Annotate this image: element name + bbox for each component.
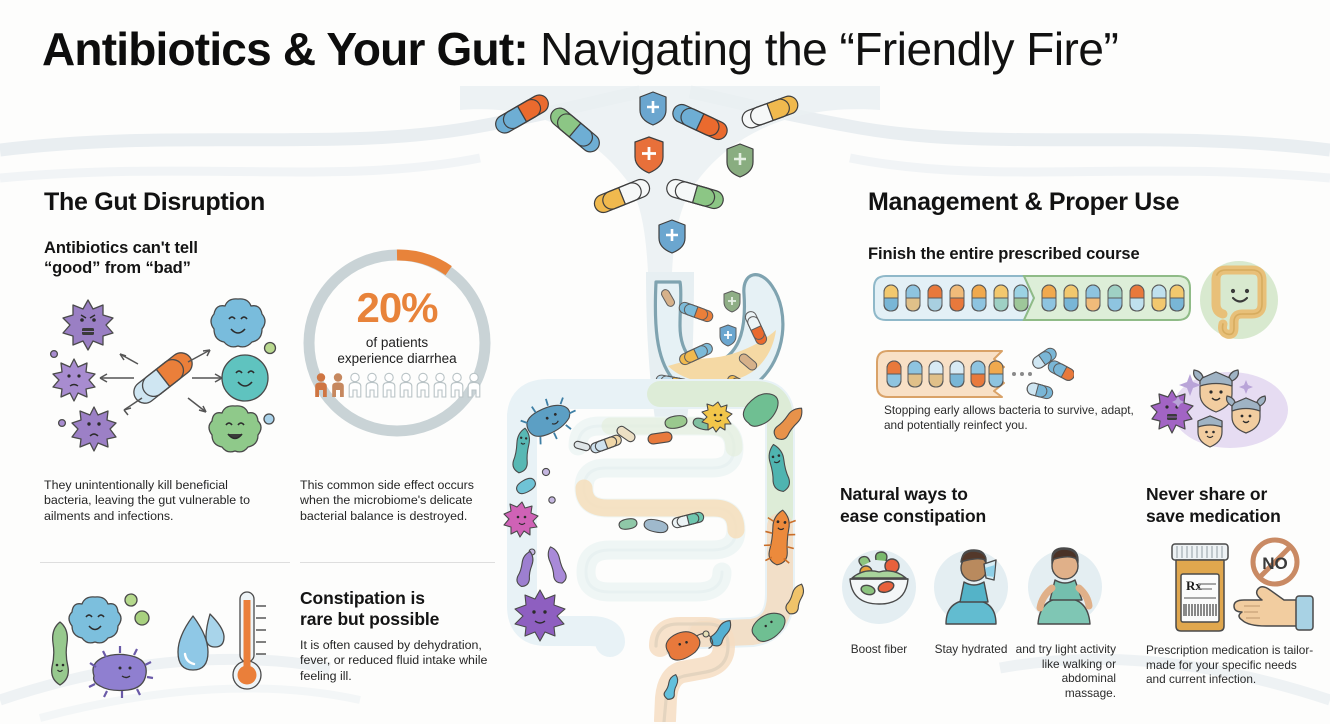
right-block1-heading: Finish the entire prescribed course (868, 244, 1140, 264)
right-section-heading: Management & Proper Use (868, 188, 1179, 217)
person-icon-empty (381, 372, 397, 398)
remedy-caption-1: Stay hydrated (924, 642, 1018, 657)
title-light-segment: Navigating the “Friendly Fire” (528, 23, 1118, 75)
remedy-caption-0: Boost fiber (840, 642, 918, 657)
left-block1-heading-line1: Antibiotics can't tell (44, 238, 198, 258)
left-block3-heading-line2: rare but possible (300, 609, 439, 630)
rx-label-text: Rx (1186, 578, 1202, 593)
person-icon-empty (398, 372, 414, 398)
person-drinking-water-icon (932, 546, 1010, 628)
right-block2-heading: Natural ways to ease constipation (840, 483, 986, 527)
page-title: Antibiotics & Your Gut: Navigating the “… (42, 22, 1292, 84)
right-block1-caption: Stopping early allows bacteria to surviv… (884, 403, 1134, 432)
stat-label-line1: of patients (366, 335, 428, 350)
person-icon-empty (364, 372, 380, 398)
microbes-waterdrop-thermometer (38, 572, 288, 702)
person-icon-empty (432, 372, 448, 398)
person-icon-empty (415, 372, 431, 398)
right-block2-heading-line1: Natural ways to (840, 483, 986, 505)
full-pill-strip-illustration (872, 272, 1192, 324)
left-section-heading: The Gut Disruption (44, 188, 265, 217)
person-walking-icon (1026, 546, 1104, 628)
digestive-tract-with-pills-and-bacteria (460, 86, 880, 722)
no-label-text: NO (1262, 554, 1288, 573)
left-block1-body: They unintentionally kill beneficial bac… (44, 478, 259, 524)
germs-vs-microbes-diagram (38, 286, 288, 466)
left-block1-heading-line2: “good” from “bad” (44, 258, 198, 278)
right-block3-caption: Prescription medication is tailor-made f… (1146, 643, 1316, 687)
people-pictogram-row (313, 372, 482, 398)
shielded-microbes-icon (1138, 352, 1298, 452)
partial-pill-strip-illustration (874, 346, 1074, 402)
stat-percentage: 20% (356, 287, 437, 329)
right-block3-heading-line2: save medication (1146, 505, 1281, 527)
remedy-caption-2: and try light activity like walking or a… (1012, 642, 1116, 700)
person-icon-filled (313, 372, 329, 398)
right-block3-heading: Never share or save medication (1146, 483, 1281, 527)
happy-colon-icon (1196, 258, 1282, 342)
prescription-bottle-no-sharing-icon: Rx NO (1150, 534, 1320, 634)
left-divider-1 (40, 562, 290, 563)
salad-bowl-icon (840, 546, 918, 628)
stat-label-line2: experience diarrhea (337, 351, 456, 366)
left-block3-heading: Constipation is rare but possible (300, 588, 439, 630)
infographic-root: Antibiotics & Your Gut: Navigating the “… (0, 0, 1330, 724)
person-icon-empty (347, 372, 363, 398)
person-icon-filled (330, 372, 346, 398)
title-bold-segment: Antibiotics & Your Gut: (42, 23, 528, 75)
left-block1-heading: Antibiotics can't tell “good” from “bad” (44, 238, 198, 278)
right-block3-heading-line1: Never share or (1146, 483, 1281, 505)
left-block3-heading-line1: Constipation is (300, 588, 439, 609)
right-block2-heading-line2: ease constipation (840, 505, 986, 527)
